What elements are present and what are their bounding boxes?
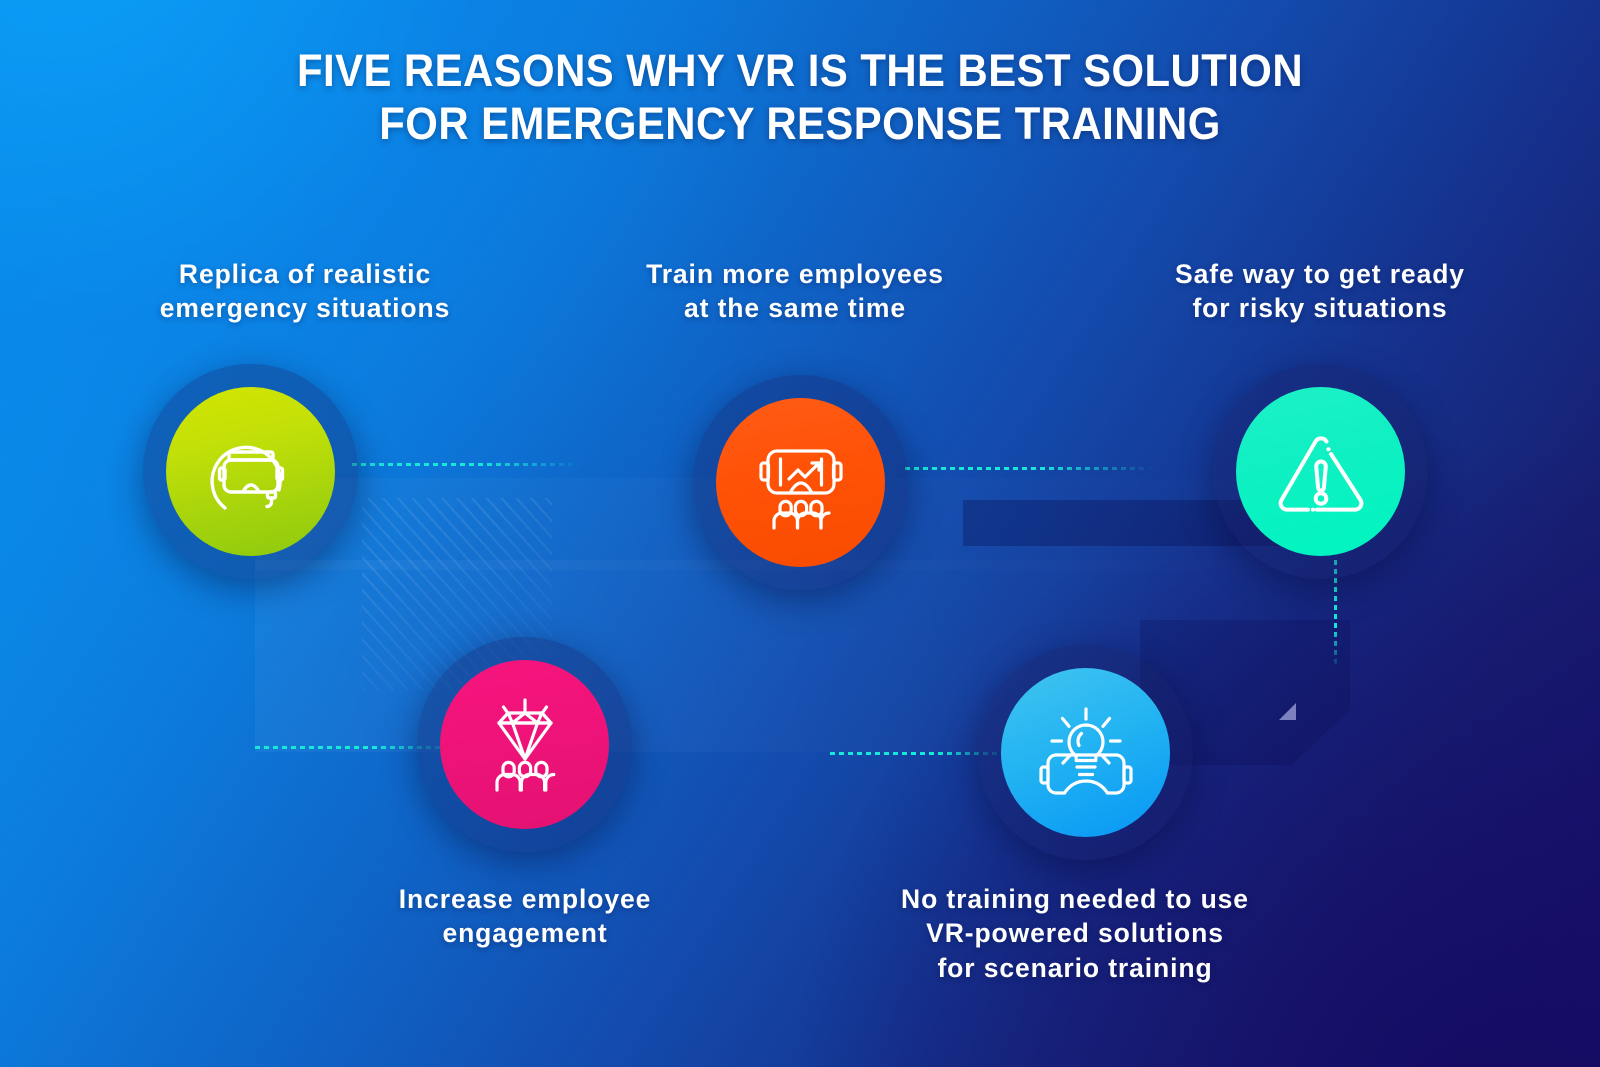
reason-2-badge[interactable] <box>716 398 885 567</box>
reason-5-badge[interactable] <box>1001 668 1170 837</box>
infographic-canvas: FIVE REASONS WHY VR IS THE BEST SOLUTION… <box>0 0 1600 1067</box>
reason-5-caption: No training needed to use VR-powered sol… <box>815 882 1335 985</box>
reason-2-caption: Train more employees at the same time <box>535 257 1055 326</box>
page-title: FIVE REASONS WHY VR IS THE BEST SOLUTION… <box>56 44 1544 150</box>
triangle-marker-icon <box>1279 703 1296 720</box>
reason-3-badge[interactable] <box>1236 387 1405 556</box>
reason-4-badge[interactable] <box>440 660 609 829</box>
warning-triangle-icon <box>1265 416 1377 528</box>
vr-headset-icon <box>195 416 307 528</box>
reason-4-caption: Increase employee engagement <box>265 882 785 951</box>
page-title-line-2: FOR EMERGENCY RESPONSE TRAINING <box>56 97 1544 150</box>
reason-3-caption: Safe way to get ready for risky situatio… <box>1060 257 1580 326</box>
reason-1-badge[interactable] <box>166 387 335 556</box>
connector-dotted-line-1 <box>352 463 582 466</box>
page-title-line-1: FIVE REASONS WHY VR IS THE BEST SOLUTION <box>56 44 1544 97</box>
connector-dotted-line-2 <box>905 467 1155 470</box>
diamond-audience-icon <box>469 689 581 801</box>
reason-1-caption: Replica of realistic emergency situation… <box>45 257 565 326</box>
lightbulb-vr-headset-icon <box>1030 697 1142 809</box>
vr-headset-chart-audience-icon <box>745 427 857 539</box>
